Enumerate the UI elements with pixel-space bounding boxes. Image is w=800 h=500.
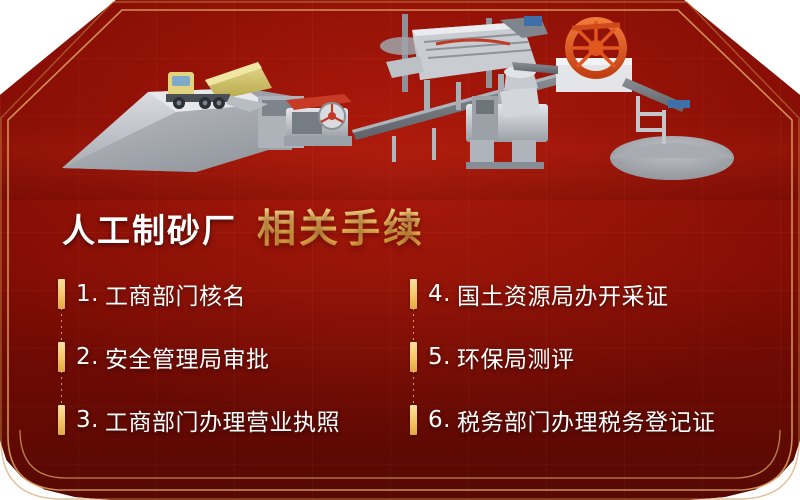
cone-crusher-icon <box>466 66 548 169</box>
list-item-label: 国土资源局办开采证 <box>457 277 669 311</box>
list-item-index: 1. <box>76 281 99 307</box>
list-item-index: 4. <box>428 281 451 307</box>
dump-truck-icon <box>166 62 272 112</box>
list-item[interactable]: 3. 工商部门办理营业执照 <box>58 388 418 451</box>
headline-primary: 人工制砂厂 <box>62 204 237 252</box>
list-item[interactable]: 5. 环保局测评 <box>410 325 770 388</box>
list-item-index: 3. <box>76 407 99 433</box>
red-banner-panel: 人工制砂厂 相关手续 1. 工商部门核名 2. 安全管理局审批 <box>0 0 800 500</box>
bullet-bar-icon <box>58 405 65 435</box>
bullet-bar-icon <box>410 342 417 372</box>
procedure-list-right-column: 4. 国土资源局办开采证 5. 环保局测评 6. 税务部门办理税务登记证 <box>410 262 770 451</box>
list-item[interactable]: 1. 工商部门核名 <box>58 262 418 325</box>
procedure-list: 1. 工商部门核名 2. 安全管理局审批 3. 工商部门办理营业执照 <box>0 262 800 462</box>
procedure-list-left-column: 1. 工商部门核名 2. 安全管理局审批 3. 工商部门办理营业执照 <box>58 262 418 451</box>
headline-secondary: 相关手续 <box>257 198 425 254</box>
headline-group: 人工制砂厂 相关手续 <box>62 198 425 254</box>
banner-stage: 人工制砂厂 相关手续 1. 工商部门核名 2. 安全管理局审批 <box>0 0 800 500</box>
bullet-bar-icon <box>410 405 417 435</box>
list-item-label: 工商部门核名 <box>105 277 246 311</box>
list-item-label: 工商部门办理营业执照 <box>105 403 340 437</box>
list-item-index: 5. <box>428 344 451 370</box>
jaw-crusher-icon <box>284 94 352 146</box>
list-item-label: 税务部门办理税务登记证 <box>457 403 716 437</box>
list-item[interactable]: 2. 安全管理局审批 <box>58 325 418 388</box>
list-item-label: 安全管理局审批 <box>105 340 270 374</box>
bullet-bar-icon <box>58 342 65 372</box>
list-item[interactable]: 6. 税务部门办理税务登记证 <box>410 388 770 451</box>
list-item-index: 6. <box>428 407 451 433</box>
production-line-illustration <box>0 0 800 200</box>
sand-stockpile-icon <box>610 136 734 180</box>
list-item[interactable]: 4. 国土资源局办开采证 <box>410 262 770 325</box>
bullet-bar-icon <box>58 279 65 309</box>
list-item-index: 2. <box>76 344 99 370</box>
list-item-label: 环保局测评 <box>457 340 575 374</box>
bullet-bar-icon <box>410 279 417 309</box>
